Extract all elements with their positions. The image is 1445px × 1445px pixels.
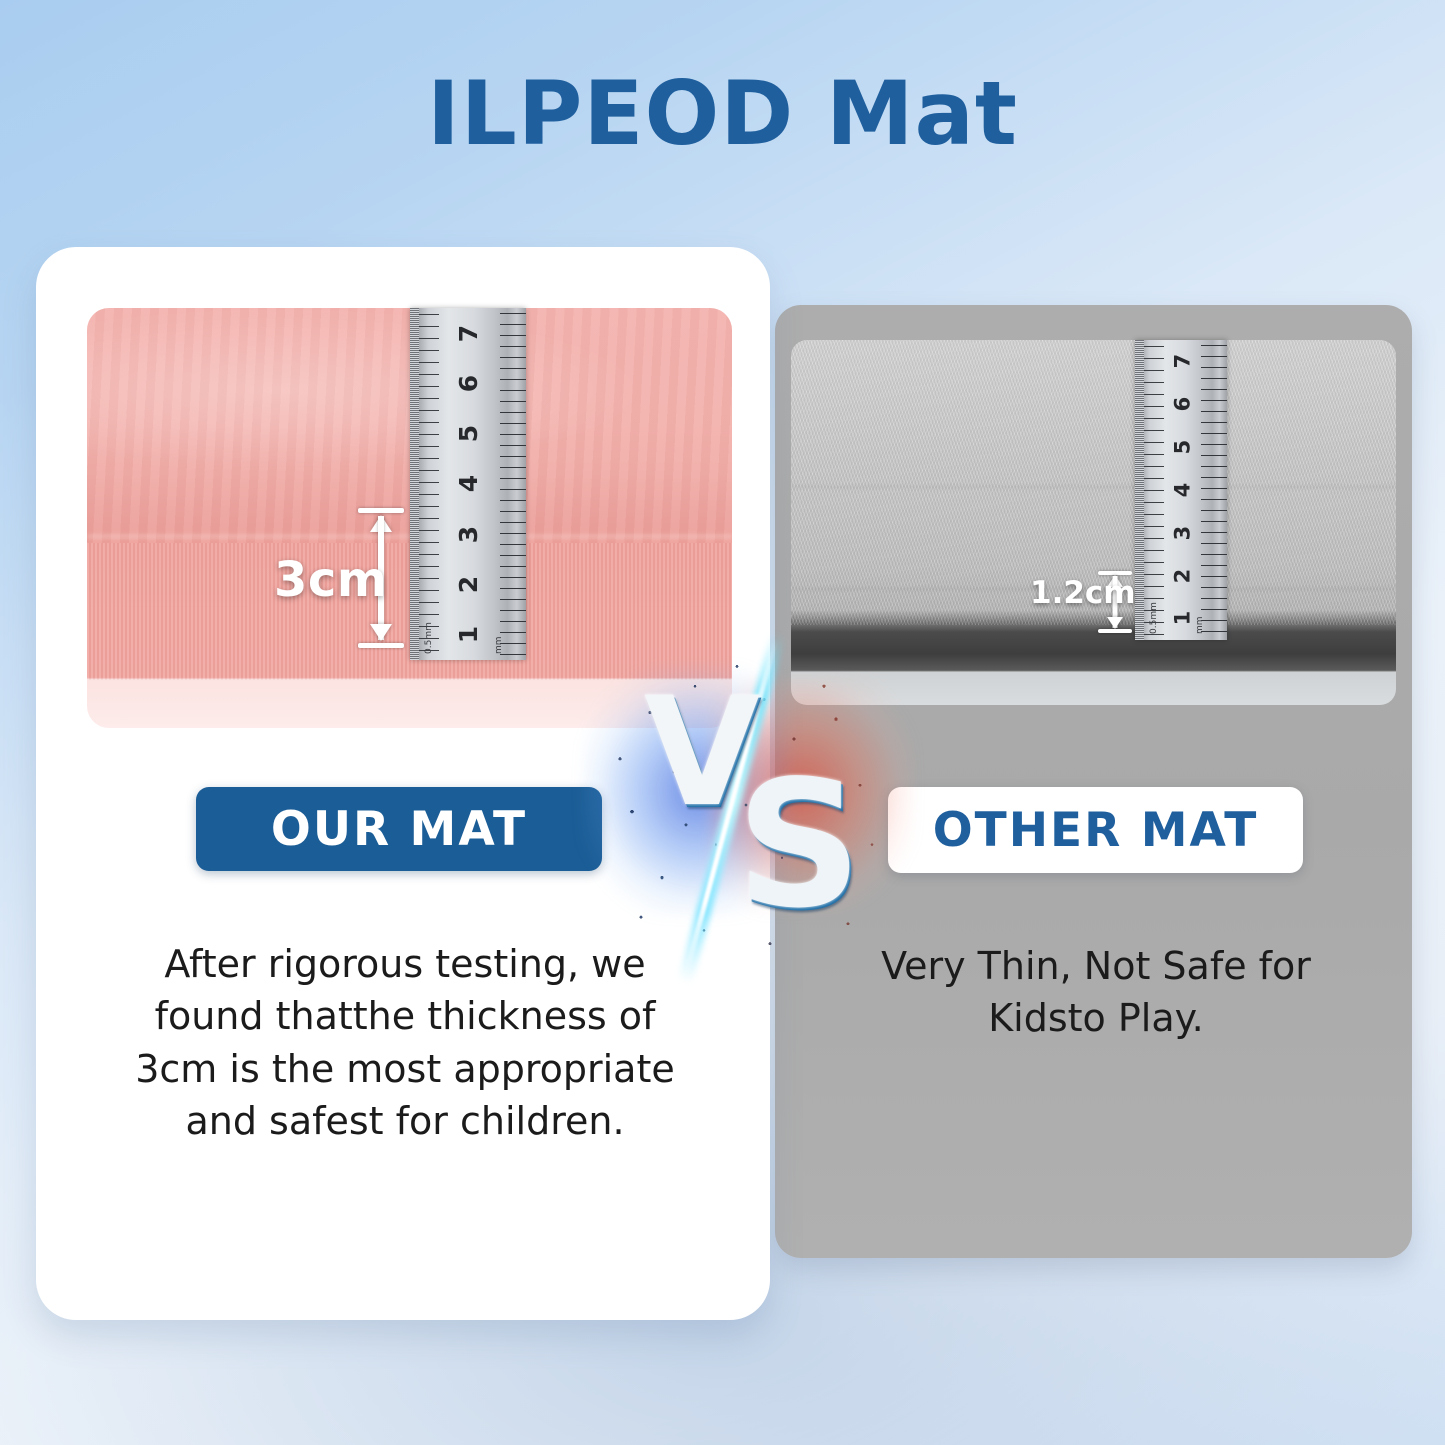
ruler-unit-label: mm bbox=[494, 636, 504, 654]
ruler-knurled-edge bbox=[410, 308, 419, 660]
ruler-precision-label: 0.5mm bbox=[1149, 602, 1159, 634]
measure-cap-bottom bbox=[1098, 629, 1132, 633]
other-mat-photo bbox=[791, 340, 1396, 705]
our-mat-badge: OUR MAT bbox=[196, 787, 602, 871]
page-title: ILPEOD Mat bbox=[0, 62, 1445, 165]
other-mat-ruler: 1 2 3 4 5 6 7 0.5mm mm bbox=[1135, 340, 1227, 640]
ruler-mark: 3 bbox=[455, 526, 484, 543]
ruler-mark: 7 bbox=[455, 324, 484, 341]
ruler-knurled-edge bbox=[1135, 340, 1144, 640]
measure-cap-bottom bbox=[358, 643, 404, 648]
photo-crease-line bbox=[791, 486, 1396, 488]
arrow-down-icon bbox=[370, 624, 392, 641]
ruler-mark: 6 bbox=[455, 375, 484, 392]
ruler-mark: 2 bbox=[455, 576, 484, 593]
ruler-mark: 6 bbox=[1170, 397, 1194, 412]
our-mat-thickness-label: 3cm bbox=[274, 552, 387, 608]
other-mat-description: Very Thin, Not Safe for Kidsto Play. bbox=[845, 940, 1347, 1045]
ruler-mark: 1 bbox=[455, 626, 484, 643]
ruler-mark: 5 bbox=[455, 425, 484, 442]
ruler-precision-label: 0.5mm bbox=[424, 622, 434, 654]
other-mat-thickness-label: 1.2cm bbox=[1030, 575, 1136, 611]
ruler-unit-label: mm bbox=[1195, 616, 1205, 634]
ruler-mark: 4 bbox=[1170, 483, 1194, 498]
ruler-mark: 2 bbox=[1170, 568, 1194, 583]
ruler-mark: 1 bbox=[1170, 611, 1194, 626]
measure-cap-top bbox=[358, 508, 404, 513]
arrow-down-icon bbox=[1107, 617, 1123, 629]
ruler-ticks-right bbox=[1201, 340, 1227, 640]
ruler-numbers: 1 2 3 4 5 6 7 bbox=[440, 308, 498, 660]
ruler-mark: 3 bbox=[1170, 525, 1194, 540]
ruler-numbers: 1 2 3 4 5 6 7 bbox=[1165, 340, 1199, 640]
our-mat-ruler: 1 2 3 4 5 6 7 0.5mm mm bbox=[410, 308, 526, 660]
our-mat-description: After rigorous testing, we found thatthe… bbox=[110, 938, 700, 1148]
other-mat-badge: OTHER MAT bbox=[888, 787, 1303, 873]
ruler-ticks-left bbox=[419, 308, 439, 660]
ruler-mark: 4 bbox=[455, 475, 484, 492]
ruler-ticks-left bbox=[1144, 340, 1164, 640]
ruler-mark: 5 bbox=[1170, 440, 1194, 455]
ruler-mark: 7 bbox=[1170, 354, 1194, 369]
ruler-ticks-right bbox=[500, 308, 526, 660]
